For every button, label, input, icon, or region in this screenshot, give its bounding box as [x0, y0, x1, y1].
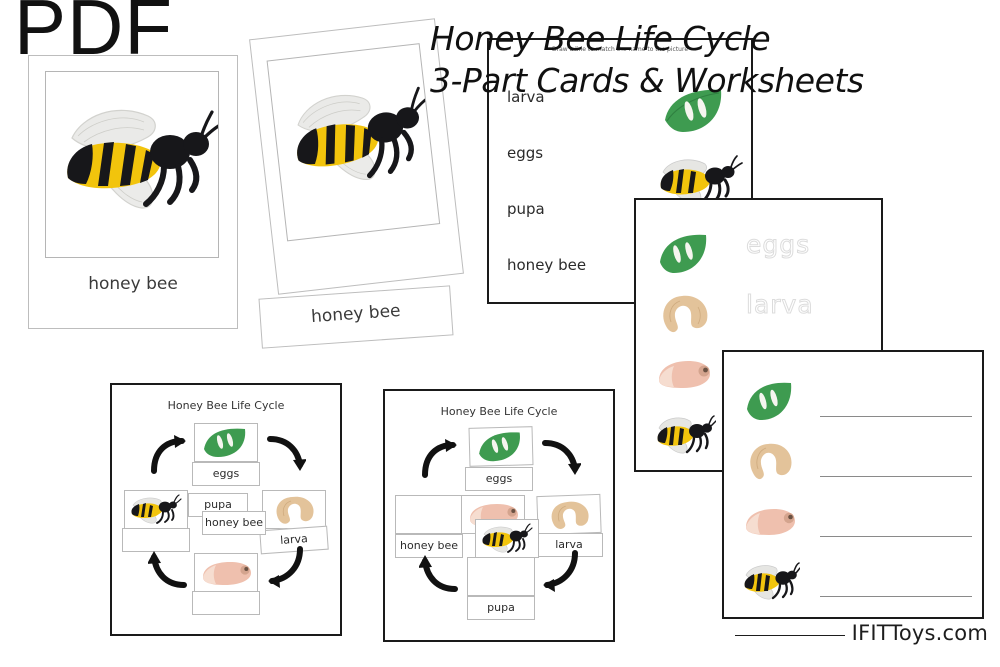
poster-canvas: honey bee — [0, 0, 1000, 667]
larva-icon — [738, 436, 800, 486]
honey-bee-photo-icon — [268, 44, 439, 240]
three-part-card-picture-word[interactable]: honey bee — [28, 55, 238, 329]
worksheet-title: Honey Bee Life Cycle — [385, 405, 613, 418]
lifecycle-loose-image-bee[interactable] — [475, 519, 539, 558]
brand-name: IFITToys.com — [852, 621, 988, 645]
honey-bee-photo-icon — [46, 72, 218, 257]
writing-line[interactable] — [820, 476, 972, 477]
lifecycle-slot-label-bottom[interactable] — [192, 591, 260, 615]
worksheet-lifecycle-images[interactable]: Honey Bee Life Cycle eggs larva pupa — [383, 389, 615, 642]
arrow-up-left-loop-icon — [419, 549, 463, 593]
lifecycle-slot-image-top[interactable] — [469, 426, 534, 467]
matching-word[interactable]: pupa — [507, 200, 627, 218]
worksheet-title: Honey Bee Life Cycle — [112, 399, 340, 412]
card-caption: honey bee — [29, 274, 237, 294]
writing-line[interactable] — [820, 416, 972, 417]
arrow-down-left-icon — [537, 549, 581, 593]
write-row[interactable] — [738, 376, 974, 434]
lifecycle-slot-image-top[interactable] — [194, 423, 258, 462]
lifecycle-slot-image-bottom[interactable] — [467, 557, 535, 596]
write-row[interactable] — [738, 436, 974, 494]
matching-word[interactable]: eggs — [507, 144, 627, 162]
pupa-icon — [650, 348, 716, 400]
lifecycle-slot-label-bottom[interactable]: pupa — [467, 596, 535, 620]
lifecycle-slot-image-left[interactable] — [395, 495, 463, 534]
trace-word: larva — [746, 290, 814, 319]
matching-word[interactable]: larva — [507, 88, 627, 106]
worksheet-instructions: Draw a line to match the name to the pic… — [489, 46, 751, 53]
arrow-up-left-icon — [148, 431, 192, 475]
lifecycle-loose-label[interactable]: honey bee — [202, 511, 266, 535]
card-caption: honey bee — [260, 297, 451, 330]
lifecycle-label: honey bee — [203, 512, 265, 534]
leaf-eggs-icon — [650, 228, 716, 280]
lifecycle-slot-image-right[interactable] — [262, 490, 326, 529]
pupa-icon — [738, 496, 800, 546]
write-row[interactable] — [738, 496, 974, 554]
matching-word[interactable]: honey bee — [507, 256, 627, 274]
three-part-card-picture-only[interactable] — [249, 18, 464, 295]
honey-bee-icon — [650, 408, 716, 460]
trace-word: eggs — [746, 230, 810, 259]
lifecycle-slot-label-top[interactable]: eggs — [465, 467, 533, 491]
arrow-up-left-icon — [419, 435, 463, 479]
trace-row[interactable]: eggs — [650, 228, 870, 284]
leaf-eggs-icon[interactable] — [649, 80, 745, 142]
lifecycle-slot-image-bottom[interactable] — [194, 553, 258, 592]
arrow-down-right-icon — [537, 435, 581, 479]
lifecycle-label: eggs — [193, 463, 259, 485]
arrow-down-left-icon — [262, 545, 306, 589]
arrow-down-right-icon — [262, 431, 306, 475]
lifecycle-label: pupa — [468, 597, 534, 619]
trace-row[interactable]: larva — [650, 288, 870, 344]
writing-line[interactable] — [820, 536, 972, 537]
brand-rule — [735, 635, 845, 636]
lifecycle-label: eggs — [466, 468, 532, 490]
leaf-eggs-icon — [738, 376, 800, 426]
larva-icon — [650, 288, 716, 340]
lifecycle-slot-image-right[interactable] — [536, 494, 601, 535]
matching-word-column: larva eggs pupa honey bee — [507, 88, 627, 312]
honey-bee-icon — [738, 556, 800, 606]
worksheet-writing[interactable] — [722, 350, 984, 619]
lifecycle-slot-image-left[interactable] — [124, 490, 188, 529]
writing-line[interactable] — [820, 596, 972, 597]
card-image-frame — [45, 71, 219, 258]
worksheet-lifecycle-labels[interactable]: Honey Bee Life Cycle eggs larva — [110, 383, 342, 636]
write-row[interactable] — [738, 556, 974, 614]
arrow-up-left-loop-icon — [148, 545, 192, 589]
lifecycle-slot-label-top[interactable]: eggs — [192, 462, 260, 486]
card-image-frame — [267, 43, 441, 241]
three-part-card-word-only[interactable]: honey bee — [258, 285, 453, 348]
pdf-badge: PDF — [14, 0, 173, 66]
